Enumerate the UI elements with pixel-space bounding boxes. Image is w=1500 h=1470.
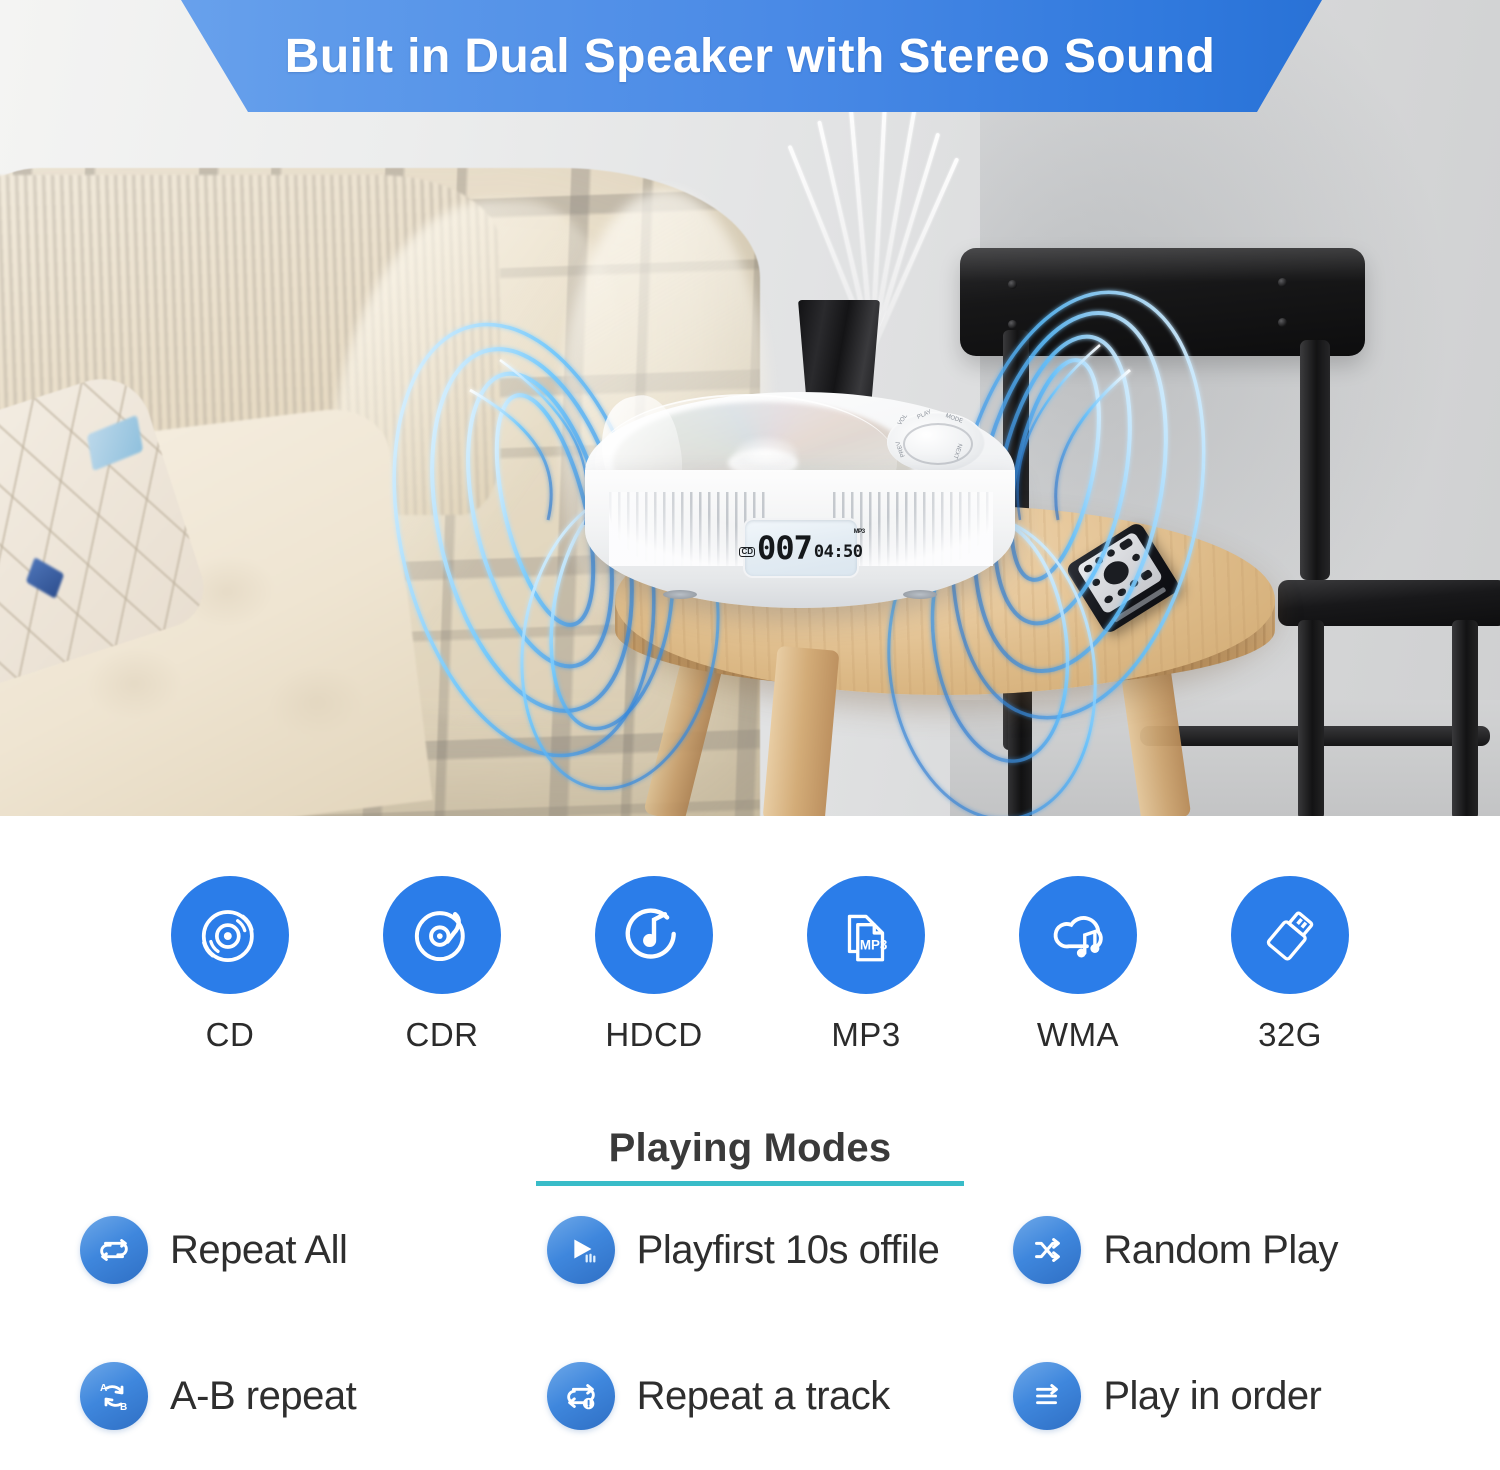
mode-label: Repeat a track [637,1374,890,1419]
playing-modes-heading: Playing Modes [0,1126,1500,1186]
mode-item-play-in-order: Play in order [1013,1362,1480,1430]
lcd-display: CD 007 04:50 MP3 [743,518,859,578]
cloud-music-icon [1019,876,1137,994]
mode-label: Playfirst 10s offile [637,1228,940,1273]
supported-formats-row: CD CDR HDCD [150,876,1370,1054]
format-label: WMA [1037,1016,1119,1054]
playing-modes-title: Playing Modes [0,1126,1500,1171]
ab-repeat-icon: A B [80,1362,148,1430]
mode-item-repeat-one: Repeat a track [547,1362,1014,1430]
mode-item-play-preview: Playfirst 10s offile [547,1216,1014,1284]
format-label: 32G [1258,1016,1322,1054]
mode-item-random-play: Random Play [1013,1216,1480,1284]
svg-text:MP3: MP3 [860,937,888,952]
lcd-cd-indicator: CD [739,547,755,557]
lcd-elapsed-time: 04:50 [814,543,863,562]
format-label: CD [206,1016,255,1054]
control-dial: VOL PLAY MODE PREV NEXT [887,412,985,472]
features-section: CD CDR HDCD [0,816,1500,1470]
player-foot [663,590,697,599]
usb-drive-icon [1231,876,1349,994]
format-label: MP3 [831,1016,900,1054]
repeat-one-icon [547,1362,615,1430]
svg-text:B: B [120,1402,127,1413]
header-banner: Built in Dual Speaker with Stereo Sound [0,0,1500,112]
format-item-wma: WMA [998,876,1158,1054]
play-in-order-icon [1013,1362,1081,1430]
mode-label: A-B repeat [170,1374,356,1419]
portable-cd-player: VOL PLAY MODE PREV NEXT CD 007 04:50 MP3 [585,392,1015,622]
player-foot [903,590,937,599]
format-item-hdcd: HDCD [574,876,734,1054]
format-item-cd: CD [150,876,310,1054]
compact-disc-icon [171,876,289,994]
repeat-all-icon [80,1216,148,1284]
mode-label: Repeat All [170,1228,347,1273]
chair-leg [1298,620,1324,816]
play-preview-icon [547,1216,615,1284]
shuffle-icon [1013,1216,1081,1284]
mode-label: Random Play [1103,1228,1338,1273]
lcd-mini-indicator: MP3 [854,529,865,535]
music-note-disc-icon [595,876,713,994]
svg-text:A: A [100,1383,107,1394]
wall-shadow [980,0,1500,816]
format-label: HDCD [605,1016,702,1054]
lcd-track-number: 007 [757,533,812,563]
format-label: CDR [406,1016,479,1054]
mode-label: Play in order [1103,1374,1321,1419]
floor [950,700,1500,816]
black-vase [798,300,880,398]
hero-product-photo: VOL PLAY MODE PREV NEXT CD 007 04:50 MP3 [0,0,1500,816]
chair-post [1300,340,1330,580]
banner-title: Built in Dual Speaker with Stereo Sound [0,0,1500,112]
format-item-cdr: CDR [362,876,522,1054]
turntable-icon [383,876,501,994]
format-item-32g: 32G [1210,876,1370,1054]
mp3-file-icon: MP3 [807,876,925,994]
playing-modes-grid: Repeat All Playfirst 10s offile [80,1216,1480,1430]
mode-item-repeat-all: Repeat All [80,1216,547,1284]
chair-leg [1452,620,1478,816]
format-item-mp3: MP3 MP3 [786,876,946,1054]
heading-underline [536,1181,964,1186]
mode-item-ab-repeat: A B A-B repeat [80,1362,547,1430]
